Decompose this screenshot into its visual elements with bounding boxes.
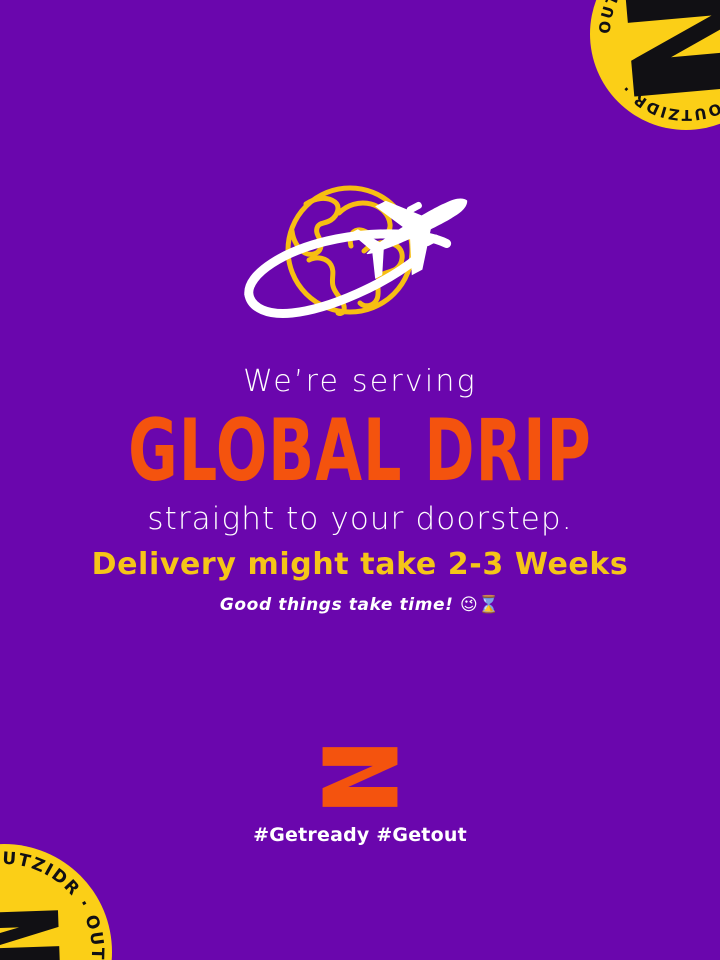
- subtitle-text: straight to your doorstep.: [0, 503, 720, 536]
- headline-block: We’re serving GLOBAL DRIP straight to yo…: [0, 366, 720, 535]
- badge-core-bottom-left: OUTZIDR: [0, 907, 69, 960]
- hashtags-text: #Getready #Getout: [0, 824, 720, 846]
- z-logo-icon: [0, 907, 63, 960]
- badge-core-top-right: [620, 0, 720, 101]
- poster-canvas: OUTZIDR · OUTZIDR · OUTZIDR · OUTZIDR ·: [0, 0, 720, 960]
- wink-hourglass-emoji: 😉⌛: [460, 595, 500, 615]
- page-title: GLOBAL DRIP: [14, 408, 705, 493]
- footer-brand-block: #Getready #Getout: [0, 746, 720, 846]
- badge-top-right: OUTZIDR · OUTZIDR · OUTZIDR · OUTZIDR ·: [590, 0, 720, 130]
- z-logo-icon: [321, 746, 399, 808]
- eyebrow-text: We’re serving: [0, 366, 720, 398]
- z-logo-icon: [620, 0, 720, 101]
- globe-airplane-illustration: [243, 180, 477, 335]
- delivery-tagline: Good things take time! 😉⌛: [0, 596, 720, 615]
- delivery-headline: Delivery might take 2-3 Weeks: [0, 548, 720, 581]
- delivery-notice-block: Delivery might take 2-3 Weeks Good thing…: [0, 548, 720, 615]
- delivery-tagline-text: Good things take time!: [220, 595, 454, 615]
- badge-bottom-left: OUTZIDR · OUTZIDR · OUTZIDR · OUTZIDR · …: [0, 844, 112, 960]
